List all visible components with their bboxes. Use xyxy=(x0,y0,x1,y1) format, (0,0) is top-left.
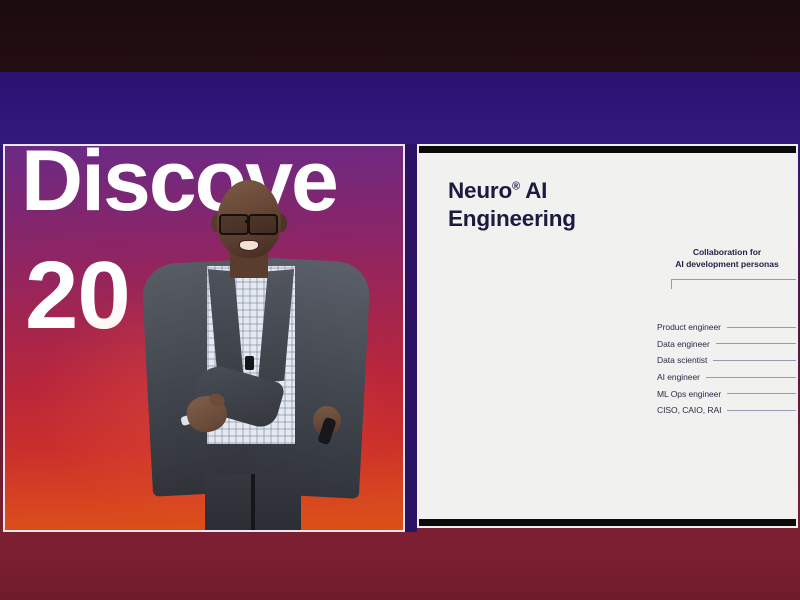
speaker-mouth xyxy=(239,240,259,251)
presentation-slide[interactable]: Neuro® AI Engineering Collaboration for … xyxy=(417,144,798,528)
list-item: AI engineer xyxy=(657,369,798,386)
personas-heading-line1: Collaboration for xyxy=(655,247,798,259)
background-band-purple xyxy=(0,72,800,146)
slide-bottom-bar xyxy=(419,519,796,526)
persona-connector-line xyxy=(716,343,798,344)
persona-label: ML Ops engineer xyxy=(657,389,721,399)
speaker-video-feed[interactable]: Discove 20 xyxy=(3,144,405,532)
personas-heading-line2: AI development personas xyxy=(655,259,798,271)
personas-heading: Collaboration for AI development persona… xyxy=(655,247,798,270)
persona-label: Data scientist xyxy=(657,355,707,365)
persona-connector-line xyxy=(727,327,798,328)
background-band-bottom xyxy=(0,530,800,600)
persona-connector-line xyxy=(727,410,798,411)
persona-label: AI engineer xyxy=(657,372,700,382)
speaker-leg-seam xyxy=(251,474,255,532)
registered-trademark-icon: ® xyxy=(512,181,520,193)
lapel-microphone-icon xyxy=(245,356,254,370)
slide-content: Neuro® AI Engineering Collaboration for … xyxy=(419,153,796,519)
list-item: Data scientist xyxy=(657,352,798,369)
persona-connector-line xyxy=(706,377,798,378)
list-item: Data engineer xyxy=(657,336,798,353)
personas-list: Product engineer Data engineer Data scie… xyxy=(657,319,798,419)
list-item: ML Ops engineer xyxy=(657,385,798,402)
persona-connector-line xyxy=(713,360,798,361)
slide-top-bar xyxy=(419,146,796,153)
slide-title-line2: Engineering xyxy=(448,206,576,231)
eyeglasses-lens-right-icon xyxy=(248,214,278,235)
slide-title-line1-suffix: AI xyxy=(520,178,547,203)
personas-diagram: Collaboration for AI development persona… xyxy=(657,247,798,270)
persona-connector-line xyxy=(727,393,798,394)
speaker-figure xyxy=(135,174,385,532)
personas-grouping-bracket xyxy=(671,279,798,289)
slide-title: Neuro® AI Engineering xyxy=(448,177,576,232)
panel-separator xyxy=(405,144,417,532)
slide-title-line1: Neuro xyxy=(448,178,512,203)
broadcast-stage: Discove 20 xyxy=(0,0,800,600)
persona-label: Data engineer xyxy=(657,339,710,349)
persona-label: Product engineer xyxy=(657,322,721,332)
list-item: Product engineer xyxy=(657,319,798,336)
background-band-top xyxy=(0,0,800,72)
eyeglasses-lens-left-icon xyxy=(219,214,249,235)
persona-label: CISO, CAIO, RAI xyxy=(657,405,721,415)
list-item: CISO, CAIO, RAI xyxy=(657,402,798,419)
eyeglasses-bridge-icon xyxy=(245,220,250,223)
